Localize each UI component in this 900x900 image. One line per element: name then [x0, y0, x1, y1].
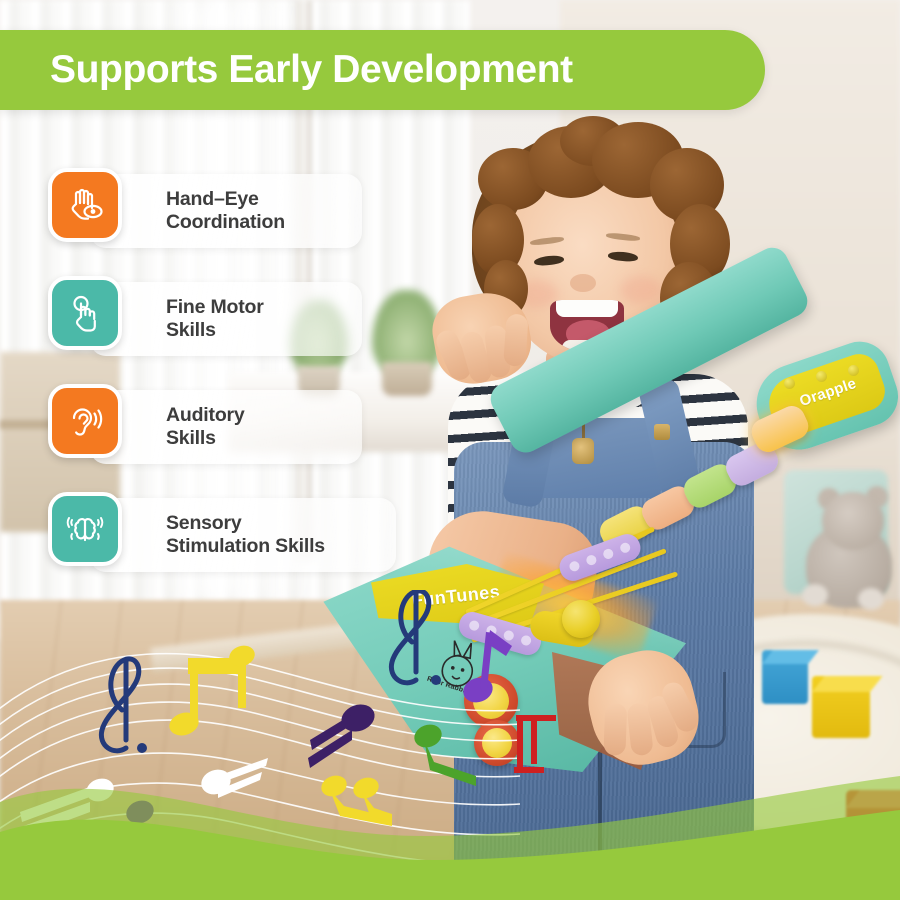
feature-list: Hand–Eye Coordination Fine M	[48, 168, 420, 600]
upper-teeth	[556, 300, 618, 317]
ear-sound-icon	[48, 384, 122, 458]
feature-pill: Sensory Stimulation Skills	[90, 498, 396, 572]
header-banner: Supports Early Development	[0, 30, 765, 110]
treble-clef-navy-2	[391, 591, 428, 683]
cheek	[620, 276, 662, 304]
feature-label: Sensory Stimulation Skills	[166, 512, 325, 558]
hand-eye-icon	[48, 168, 122, 242]
feature-label-line2: Coordination	[166, 211, 285, 233]
feature-label-line1: Fine Motor	[166, 296, 264, 318]
feature-label-line2: Skills	[166, 427, 216, 449]
feature-label: Hand–Eye Coordination	[166, 188, 285, 234]
feature-label-line1: Sensory	[166, 512, 242, 534]
guitar-bridge-knob[interactable]	[562, 600, 600, 638]
feature-sensory-stimulation-skills[interactable]: Sensory Stimulation Skills	[48, 492, 420, 578]
feature-auditory-skills[interactable]: Auditory Skills	[48, 384, 420, 470]
page-title: Supports Early Development	[50, 48, 573, 92]
feature-label-line2: Stimulation Skills	[166, 535, 325, 557]
infographic-canvas: Orapple FunTunes	[0, 0, 900, 900]
feature-pill: Auditory Skills	[90, 390, 362, 464]
feature-label-line2: Skills	[166, 319, 216, 341]
bottom-green-wave	[0, 740, 900, 900]
feature-label-line1: Hand–Eye	[166, 188, 259, 210]
tuning-peg	[816, 371, 827, 382]
feature-fine-motor-skills[interactable]: Fine Motor Skills	[48, 276, 420, 362]
tuning-peg	[784, 378, 795, 389]
tapping-hand-icon	[48, 276, 122, 350]
brain-icon	[48, 492, 122, 566]
nose	[570, 274, 596, 292]
feature-label-line1: Auditory	[166, 404, 245, 426]
feature-pill: Hand–Eye Coordination	[90, 174, 362, 248]
music-note-violet	[460, 630, 512, 706]
feature-pill: Fine Motor Skills	[90, 282, 362, 356]
feature-hand-eye-coordination[interactable]: Hand–Eye Coordination	[48, 168, 420, 254]
feature-label: Fine Motor Skills	[166, 296, 264, 342]
feature-label: Auditory Skills	[166, 404, 245, 450]
